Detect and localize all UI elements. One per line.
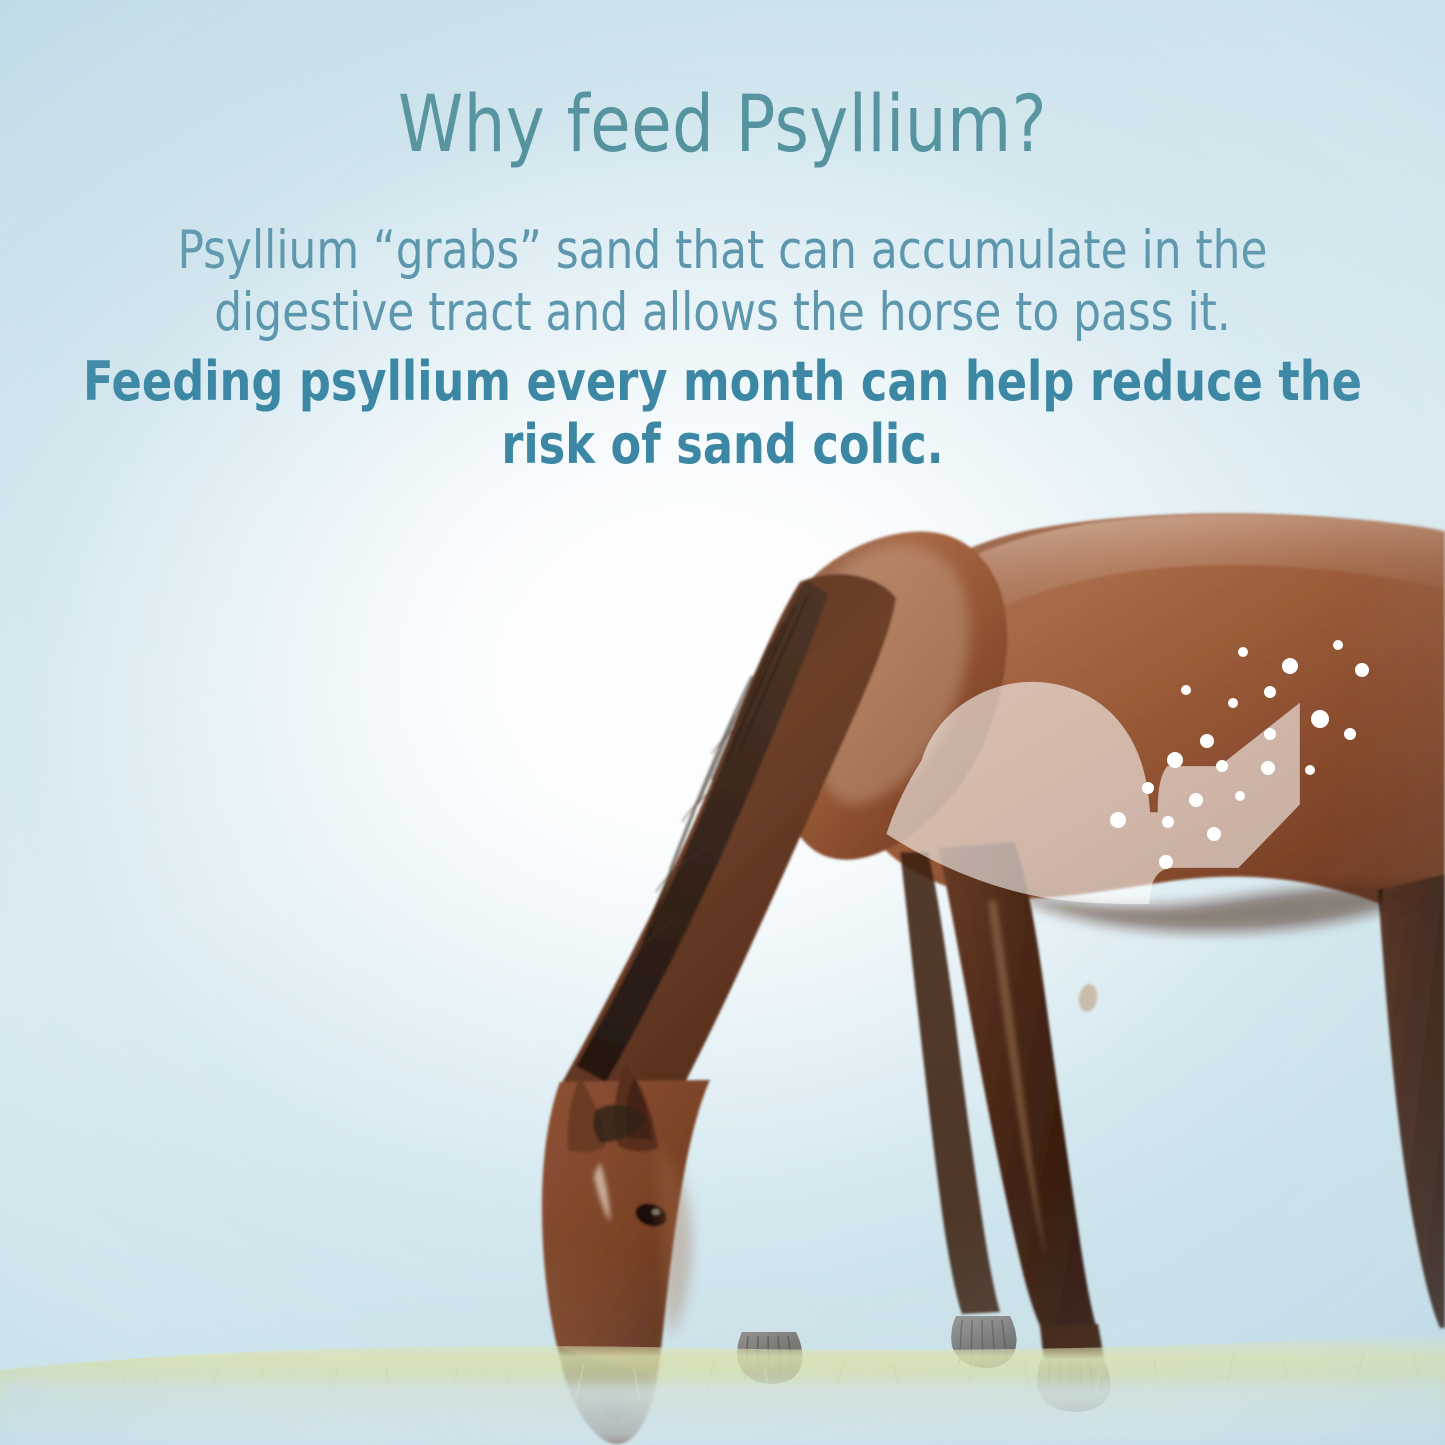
grass-fade	[0, 1382, 1445, 1445]
sand-dot	[1189, 793, 1203, 807]
sand-dot	[1261, 761, 1275, 775]
sand-dot	[1264, 686, 1276, 698]
sand-dot	[1207, 827, 1221, 841]
body-bold-line-1: Feeding psyllium every month can help re…	[58, 350, 1387, 413]
sand-dot	[1167, 752, 1183, 768]
sand-dot	[1355, 663, 1369, 677]
body-paragraph-light: Psyllium “grabs” sand that can accumulat…	[58, 164, 1387, 344]
horse-illustration	[0, 470, 1445, 1445]
text-block: Why feed Psyllium? Psyllium “grabs” sand…	[0, 0, 1445, 476]
body-light-line-1: Psyllium “grabs” sand that can accumulat…	[58, 220, 1387, 282]
sand-dot	[1142, 782, 1154, 794]
sand-dot	[1235, 791, 1245, 801]
sand-dot	[1305, 765, 1315, 775]
sand-dot	[1162, 816, 1174, 828]
sand-dot	[1264, 728, 1276, 740]
sand-dot	[1344, 728, 1356, 740]
body-paragraph-bold: Feeding psyllium every month can help re…	[58, 344, 1387, 476]
sand-dot	[1333, 640, 1343, 650]
horse-photo	[0, 470, 1445, 1445]
infographic-poster: Why feed Psyllium? Psyllium “grabs” sand…	[0, 0, 1445, 1445]
sand-dot	[1159, 855, 1173, 869]
sand-dot	[1216, 760, 1228, 772]
sand-dot	[1311, 710, 1329, 728]
body-bold-line-2: risk of sand colic.	[58, 413, 1387, 476]
horse-hind-leg	[1378, 874, 1445, 1328]
sand-dot	[1282, 658, 1298, 674]
horse-figure	[542, 513, 1445, 1445]
leg-chestnut-mark	[1077, 983, 1100, 1014]
sand-dot	[1181, 685, 1191, 695]
grass-strip	[0, 1332, 1445, 1445]
body-light-line-2: digestive tract and allows the horse to …	[58, 282, 1387, 344]
sand-dot	[1238, 647, 1248, 657]
sand-dot	[1200, 734, 1214, 748]
horse-eye-glint	[652, 1209, 660, 1215]
sand-dot	[1228, 698, 1238, 708]
page-title: Why feed Psyllium?	[43, 0, 1401, 164]
sand-dot	[1110, 812, 1126, 828]
